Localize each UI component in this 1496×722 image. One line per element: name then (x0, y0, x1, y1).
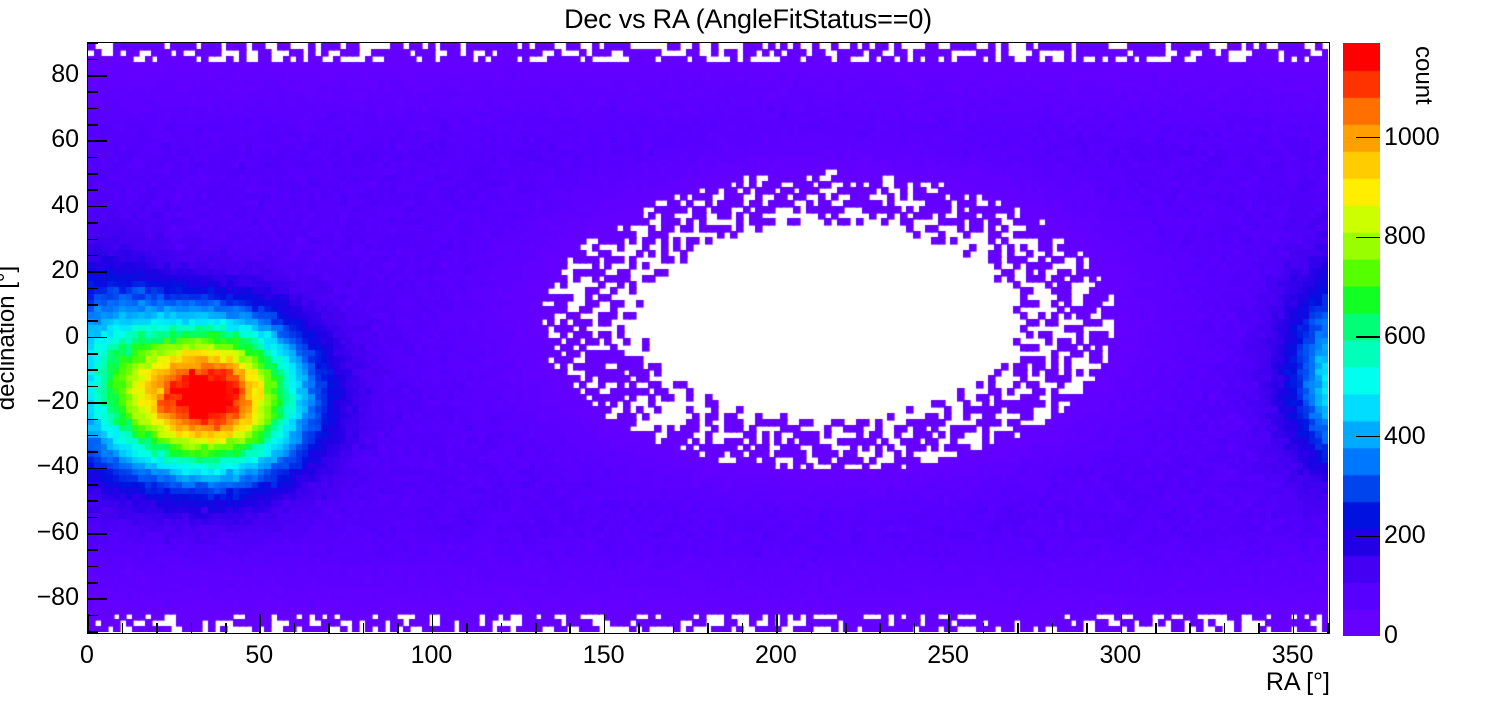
y-tick-minor (88, 189, 98, 191)
y-tick-minor (88, 386, 98, 388)
x-tick-minor (673, 623, 675, 633)
y-tick-minor (88, 484, 98, 486)
y-tick-major (88, 75, 107, 77)
x-tick-major (948, 614, 950, 633)
x-tick-minor (811, 623, 813, 633)
colorbar-tick-label: 600 (1384, 324, 1426, 349)
y-tick-minor (88, 42, 98, 44)
y-tick-minor (88, 288, 98, 290)
x-tick-major (259, 614, 261, 633)
x-axis-ticks (88, 593, 1328, 633)
x-tick-minor (879, 623, 881, 633)
x-tick-minor (363, 623, 365, 633)
y-tick-minor (88, 124, 98, 126)
y-axis-ticks (88, 43, 128, 632)
y-tick-minor (88, 517, 98, 519)
x-tick-minor (294, 623, 296, 633)
y-tick-minor (88, 157, 98, 159)
x-tick-minor (156, 623, 158, 633)
root-plot-canvas: Dec vs RA (AngleFitStatus==0) −80−60−40−… (0, 0, 1496, 722)
y-tick-major (88, 271, 107, 273)
x-tick-minor (914, 623, 916, 633)
x-tick-label: 250 (927, 640, 969, 670)
x-tick-label: 0 (80, 640, 94, 670)
colorbar-gradient (1343, 43, 1380, 636)
y-tick-major (88, 468, 107, 470)
page-title: Dec vs RA (AngleFitStatus==0) (0, 4, 1496, 34)
heatmap-data-area (88, 43, 1328, 632)
y-tick-minor (88, 500, 98, 502)
y-tick-major (88, 206, 107, 208)
y-tick-minor (88, 91, 98, 93)
x-tick-minor (1086, 623, 1088, 633)
y-tick-minor (88, 59, 98, 61)
y-tick-minor (88, 239, 98, 241)
x-tick-label: 100 (411, 640, 453, 670)
colorbar-tick-label: 400 (1384, 424, 1426, 449)
y-tick-major (88, 402, 107, 404)
y-tick-minor (88, 222, 98, 224)
x-tick-minor (535, 623, 537, 633)
x-tick-minor (466, 623, 468, 633)
y-tick-minor (88, 304, 98, 306)
x-tick-minor (707, 623, 709, 633)
x-tick-minor (1052, 623, 1054, 633)
x-tick-minor (1155, 623, 1157, 633)
y-tick-minor (88, 108, 98, 110)
x-tick-major (776, 614, 778, 633)
x-tick-minor (1224, 623, 1226, 633)
y-tick-major (88, 533, 107, 535)
y-tick-minor (88, 435, 98, 437)
x-tick-label: 350 (1272, 640, 1314, 670)
y-tick-minor (88, 173, 98, 175)
x-tick-major (87, 614, 89, 633)
x-tick-minor (983, 623, 985, 633)
y-tick-minor (88, 320, 98, 322)
x-tick-label: 150 (583, 640, 625, 670)
x-tick-minor (1189, 623, 1191, 633)
y-axis-title: declination [°] (0, 42, 20, 634)
x-tick-major (432, 614, 434, 633)
y-tick-major (88, 337, 107, 339)
y-tick-minor (88, 549, 98, 551)
y-tick-minor (88, 369, 98, 371)
y-tick-major (88, 140, 107, 142)
x-tick-minor (501, 623, 503, 633)
x-tick-minor (225, 623, 227, 633)
x-tick-minor (122, 623, 124, 633)
x-tick-major (1293, 614, 1295, 633)
y-tick-minor (88, 255, 98, 257)
x-tick-minor (1327, 623, 1329, 633)
x-tick-minor (742, 623, 744, 633)
x-tick-label: 300 (1099, 640, 1141, 670)
x-tick-minor (845, 623, 847, 633)
y-tick-minor (88, 419, 98, 421)
y-tick-minor (88, 353, 98, 355)
x-tick-minor (328, 623, 330, 633)
y-tick-minor (88, 582, 98, 584)
x-tick-minor (1017, 623, 1019, 633)
colorbar-tick-label: 800 (1384, 224, 1426, 249)
colorbar-tick-label: 200 (1384, 523, 1426, 548)
x-tick-minor (191, 623, 193, 633)
x-tick-label: 200 (755, 640, 797, 670)
colorbar-tick-label: 0 (1384, 623, 1398, 648)
colorbar-title: count (1410, 46, 1436, 166)
y-tick-minor (88, 566, 98, 568)
x-tick-minor (569, 623, 571, 633)
x-tick-minor (638, 623, 640, 633)
x-tick-minor (397, 623, 399, 633)
y-tick-minor (88, 451, 98, 453)
colorbar (1343, 43, 1380, 636)
plot-frame (87, 42, 1330, 634)
x-tick-minor (1258, 623, 1260, 633)
x-tick-major (1121, 614, 1123, 633)
x-tick-major (604, 614, 606, 633)
x-axis-title: RA [°] (1130, 668, 1330, 696)
x-tick-label: 50 (245, 640, 273, 670)
